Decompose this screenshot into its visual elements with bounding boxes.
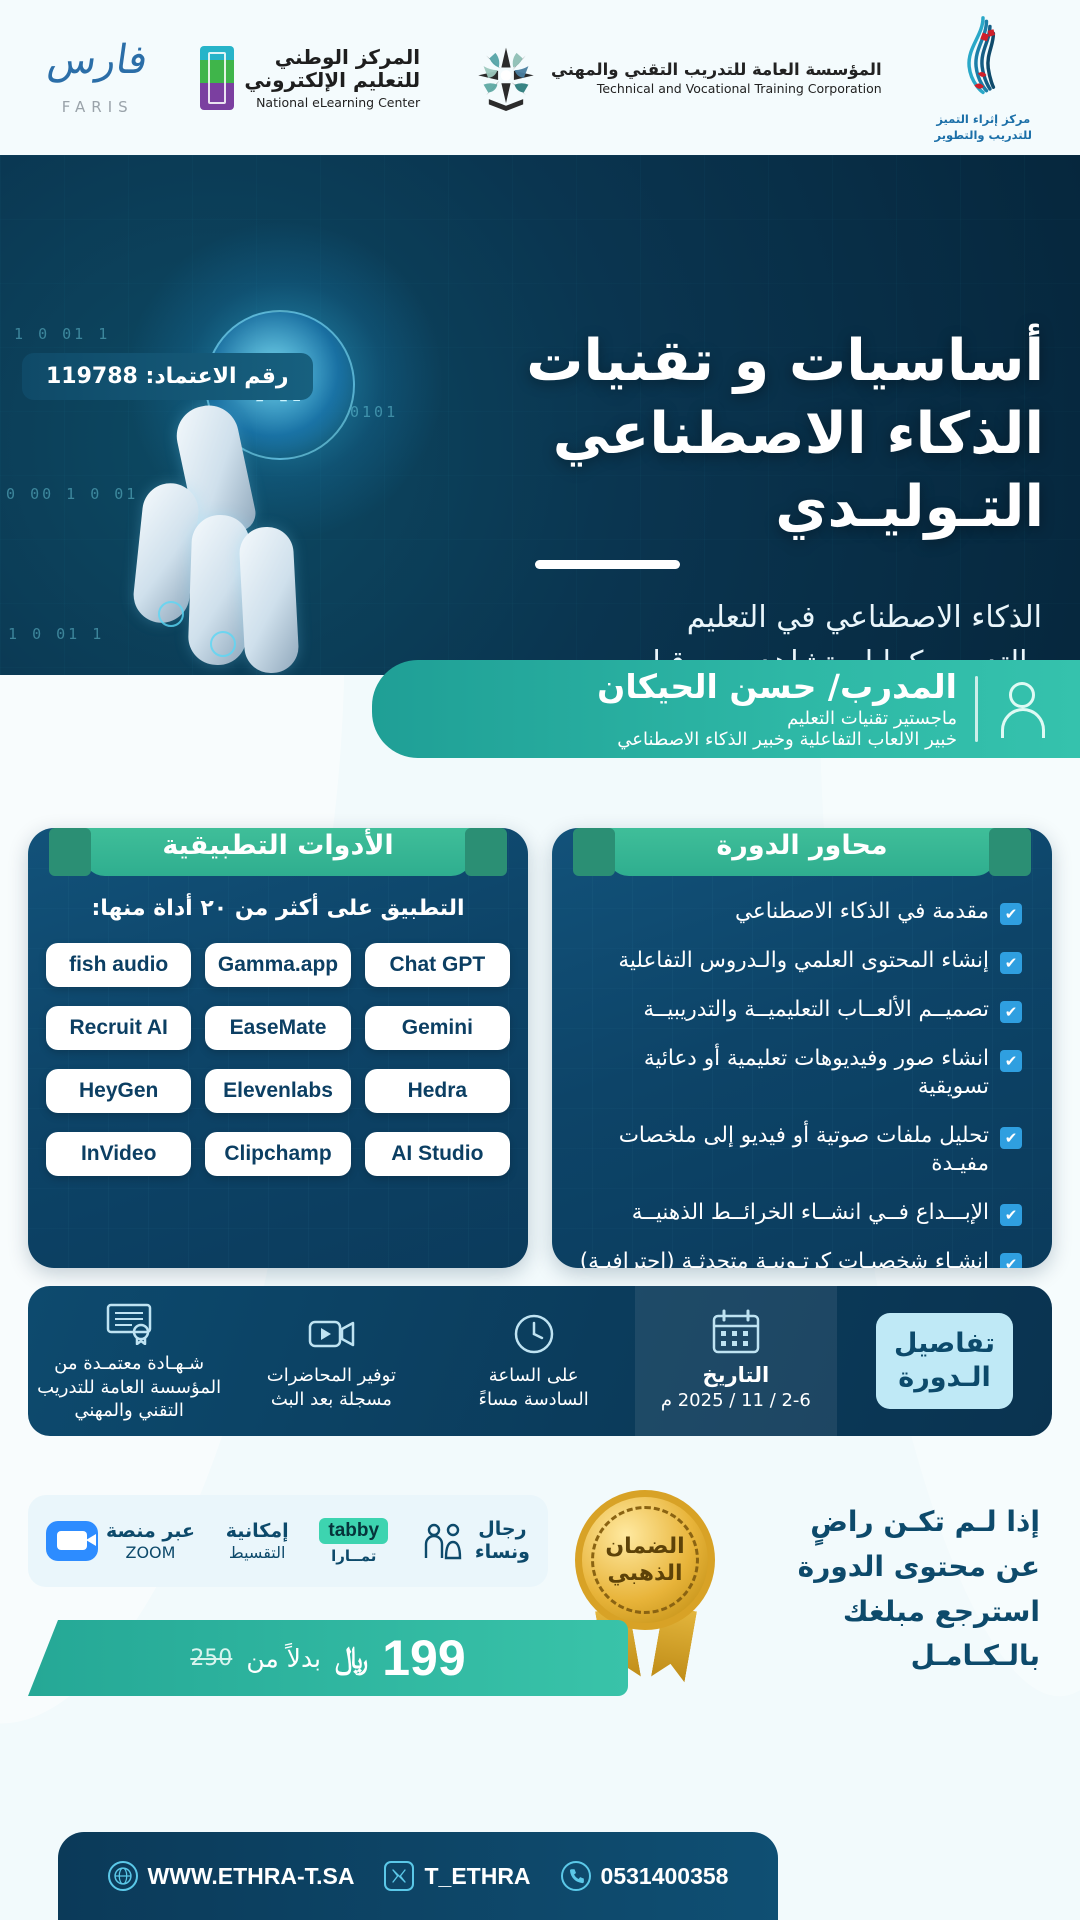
- installment-line2: التقسيط: [226, 1543, 289, 1562]
- clock-icon: [507, 1311, 561, 1357]
- installment-label: إمكانية التقسيط: [226, 1520, 289, 1562]
- seal-line1: الضمان: [605, 1533, 684, 1561]
- detail-time: على الساعة السادسة مساءً: [433, 1286, 635, 1436]
- guarantee-line2: عن محتوى الدورة: [720, 1545, 1040, 1590]
- guarantee-line1: إذا لـم تكـن راضٍ: [720, 1500, 1040, 1545]
- price-old-amount: 250: [190, 1646, 232, 1671]
- detail-date: التاريخ 2-6 / 11 / 2025 م: [635, 1286, 837, 1436]
- globe-icon: [108, 1861, 138, 1891]
- robot-hand-illustration: [118, 405, 358, 675]
- detail-recording: توفير المحاضرات مسجلة بعد البث: [230, 1286, 432, 1436]
- topic-label: مقدمة في الذكاء الاصطناعي: [576, 898, 989, 926]
- platform-line1: عبر منصة: [106, 1520, 195, 1542]
- topic-item: ✔تصميــم الألعــاب التعليميــة والتدريبي…: [576, 996, 1022, 1024]
- payment-options-card: رجال ونساء tabby تمــارا إمكانية التق: [28, 1495, 548, 1587]
- platform-line2: ZOOM: [106, 1543, 195, 1562]
- detail-certificate: شـهـادة معتمـدة من المؤسسة العامة للتدري…: [28, 1286, 230, 1436]
- topic-label: تصميــم الألعــاب التعليميــة والتدريبيـ…: [576, 996, 989, 1024]
- tool-chip[interactable]: InVideo: [46, 1132, 191, 1176]
- person-icon: [996, 678, 1052, 740]
- topic-item: ✔تحليل ملفات صوتية أو فيديو إلى ملخصات م…: [576, 1122, 1022, 1178]
- details-title: تفاصيل الـدورة: [837, 1286, 1052, 1436]
- check-icon: ✔: [1000, 1050, 1022, 1072]
- topic-item: ✔انشاء صور وفيديوهات تعليمية أو دعائية ت…: [576, 1045, 1022, 1101]
- website-label: WWW.ETHRA-T.SA: [148, 1863, 355, 1890]
- tvtc-star-icon: [473, 45, 539, 111]
- zoom-icon: [46, 1521, 98, 1561]
- price-instead-label: بدلاً من: [246, 1644, 321, 1673]
- topic-item: ✔الإبـــداع فــي انشــاء الخرائــط الذهن…: [576, 1199, 1022, 1227]
- topic-label: انشـاء شخصيـات كرتـونيـة متحدثـة (احتراف…: [576, 1248, 989, 1269]
- audience-label: رجال ونساء: [475, 1518, 530, 1564]
- faris-mark: فارس: [45, 40, 150, 80]
- phone-item[interactable]: 0531400358: [561, 1861, 729, 1891]
- tool-chip[interactable]: Clipchamp: [205, 1132, 350, 1176]
- topic-label: تحليل ملفات صوتية أو فيديو إلى ملخصات مف…: [576, 1122, 989, 1178]
- ethraa-arabic-line2: للتدريب والتطوير: [935, 128, 1032, 144]
- hero-title-line3: التـوليـدي: [504, 471, 1044, 544]
- x-handle-label: T_ETHRA: [424, 1863, 530, 1890]
- topic-item: ✔إنشاء المحتوى العلمي والـدروس التفاعلية: [576, 947, 1022, 975]
- detail-time-text: على الساعة السادسة مساءً: [479, 1364, 589, 1412]
- faris-wordmark: FARIS: [62, 98, 134, 116]
- robot-joint-2: [210, 631, 236, 657]
- tool-chip[interactable]: Gemini: [365, 1006, 510, 1050]
- tvtc-logo: المؤسسة العامة للتدريب التقني والمهني Te…: [473, 45, 882, 111]
- tools-row: Chat GPT Gamma.app fish audio: [46, 943, 510, 987]
- platform-item: عبر منصة ZOOM: [46, 1520, 195, 1562]
- tamara-logo: تمــارا: [331, 1547, 376, 1565]
- guarantee-line4: بالـكـامـل: [720, 1634, 1040, 1679]
- hero-title-line2: الذكاء الاصطناعي: [504, 398, 1044, 471]
- nelc-arabic-line1: المركز الوطني: [244, 46, 420, 69]
- hero-title-line1: أساسيات و تقنيات: [504, 325, 1044, 398]
- calendar-icon: [709, 1309, 763, 1355]
- topic-label: انشاء صور وفيديوهات تعليمية أو دعائية تس…: [576, 1045, 989, 1101]
- trainer-name: المدرب/ حسن الحيكان: [406, 668, 957, 706]
- binary-bit-1: 1 01 0 1: [14, 325, 110, 343]
- price-currency: ﷼: [335, 1641, 368, 1676]
- logo-bar: فارس FARIS المركز الوطني للتعليم الإلكتر…: [0, 0, 1080, 155]
- audience-item: رجال ونساء: [419, 1518, 530, 1564]
- trainer-bar: المدرب/ حسن الحيكان ماجستير تقنيات التعل…: [372, 660, 1080, 758]
- nelc-logo: المركز الوطني للتعليم الإلكتروني Nationa…: [200, 46, 420, 110]
- tool-chip[interactable]: HeyGen: [46, 1069, 191, 1113]
- approval-number-badge: رقم الاعتماد: 119788: [22, 353, 313, 400]
- tool-chip[interactable]: Recruit AI: [46, 1006, 191, 1050]
- nelc-glyph-icon: [200, 46, 234, 110]
- tools-ribbon-title: الأدوات التطبيقية: [83, 828, 473, 876]
- tabby-tamara-item: tabby تمــارا: [319, 1518, 388, 1565]
- guarantee-line3: استرجع مبلغك: [720, 1590, 1040, 1635]
- check-icon: ✔: [1000, 1253, 1022, 1269]
- details-title-line1: تفاصيل: [894, 1327, 995, 1361]
- tool-chip[interactable]: fish audio: [46, 943, 191, 987]
- poster-root: فارس FARIS المركز الوطني للتعليم الإلكتر…: [0, 0, 1080, 1920]
- trainer-qualification: ماجستير تقنيات التعليم: [406, 708, 957, 729]
- topics-list: ✔مقدمة في الذكاء الاصطناعي ✔إنشاء المحتو…: [570, 884, 1034, 1268]
- details-title-line2: الـدورة: [894, 1361, 995, 1395]
- tools-row: AI Studio Clipchamp InVideo: [46, 1132, 510, 1176]
- ethraa-arabic-line1: مركز إثراء التميز: [935, 112, 1032, 128]
- certificate-icon: [102, 1299, 156, 1345]
- hero-subtitle-line1: الذكاء الاصطناعي في التعليم: [522, 595, 1042, 640]
- detail-date-value: 2-6 / 11 / 2025 م: [661, 1390, 811, 1411]
- seal-line2: الذهبي: [608, 1560, 683, 1588]
- topic-label: إنشاء المحتوى العلمي والـدروس التفاعلية: [576, 947, 989, 975]
- panels-row: محاور الدورة ✔مقدمة في الذكاء الاصطناعي …: [0, 828, 1080, 1268]
- topic-item: ✔مقدمة في الذكاء الاصطناعي: [576, 898, 1022, 926]
- hero-title: أساسيات و تقنيات الذكاء الاصطناعي التـول…: [504, 325, 1044, 544]
- seal-medal-icon: الضمان الذهبي: [575, 1490, 715, 1630]
- website-item[interactable]: WWW.ETHRA-T.SA: [108, 1861, 355, 1891]
- contact-footer: WWW.ETHRA-T.SA T_ETHRA 0531400358: [58, 1832, 778, 1920]
- tools-panel: الأدوات التطبيقية التطبيق على أكثر من ٢٠…: [28, 828, 528, 1268]
- price-banner: 199 ﷼ بدلاً من 250: [28, 1620, 628, 1696]
- check-icon: ✔: [1000, 903, 1022, 925]
- faris-logo: فارس FARIS: [48, 40, 147, 116]
- ethraa-flame-icon: [957, 12, 1009, 100]
- check-icon: ✔: [1000, 1001, 1022, 1023]
- robot-finger-ring: [238, 526, 300, 675]
- robot-joint-1: [158, 601, 184, 627]
- check-icon: ✔: [1000, 1127, 1022, 1149]
- topic-label: الإبـــداع فــي انشــاء الخرائــط الذهني…: [576, 1199, 989, 1227]
- check-icon: ✔: [1000, 952, 1022, 974]
- phone-icon: [561, 1861, 591, 1891]
- price-amount: 199: [382, 1629, 465, 1687]
- tvtc-arabic: المؤسسة العامة للتدريب التقني والمهني: [551, 60, 882, 79]
- installment-line1: إمكانية: [226, 1520, 289, 1542]
- nelc-arabic-line2: للتعليم الإلكتروني: [244, 69, 420, 92]
- x-twitter-icon: [384, 1861, 414, 1891]
- phone-label: 0531400358: [601, 1863, 729, 1890]
- hero-section: 1 01 0 1 00 0 -0101 0101 01 0 1 00 0 1 0…: [0, 155, 1080, 675]
- tool-chip[interactable]: AI Studio: [365, 1132, 510, 1176]
- tabby-logo: tabby: [319, 1518, 388, 1544]
- detail-certificate-text: شـهـادة معتمـدة من المؤسسة العامة للتدري…: [37, 1352, 221, 1423]
- platform-label: عبر منصة ZOOM: [106, 1520, 195, 1562]
- trainer-expertise: خبير الالعاب التفاعلية وخبير الذكاء الاص…: [406, 729, 957, 750]
- detail-recording-text: توفير المحاضرات مسجلة بعد البث: [267, 1364, 396, 1412]
- tool-chip[interactable]: Chat GPT: [365, 943, 510, 987]
- tool-chip[interactable]: Elevenlabs: [205, 1069, 350, 1113]
- title-underline: [535, 560, 680, 569]
- nelc-english: National eLearning Center: [244, 95, 420, 110]
- installment-item: إمكانية التقسيط: [226, 1520, 289, 1562]
- topics-panel: محاور الدورة ✔مقدمة في الذكاء الاصطناعي …: [552, 828, 1052, 1268]
- detail-date-label: التاريخ: [703, 1363, 770, 1387]
- topics-ribbon-title: محاور الدورة: [607, 828, 997, 876]
- tools-row: Gemini EaseMate Recruit AI: [46, 1006, 510, 1050]
- topic-item: ✔انشـاء شخصيـات كرتـونيـة متحدثـة (احترا…: [576, 1248, 1022, 1269]
- tools-note: التطبيق على أكثر من ٢٠ أداة منها:: [46, 896, 510, 921]
- guarantee-text: إذا لـم تكـن راضٍ عن محتوى الدورة استرجع…: [720, 1500, 1040, 1679]
- tools-grid: Chat GPT Gamma.app fish audio Gemini Eas…: [46, 943, 510, 1176]
- video-icon: [304, 1311, 358, 1357]
- tool-chip[interactable]: Hedra: [365, 1069, 510, 1113]
- people-icon: [419, 1520, 467, 1562]
- detail-date-text: التاريخ 2-6 / 11 / 2025 م: [661, 1362, 811, 1413]
- ethraa-logo: مركز إثراء التميز للتدريب والتطوير: [935, 12, 1032, 143]
- course-details-bar: تفاصيل الـدورة التاريخ 2-6 / 11 / 2025 م: [28, 1286, 1052, 1436]
- tool-chip[interactable]: EaseMate: [205, 1006, 350, 1050]
- tvtc-english: Technical and Vocational Training Corpor…: [551, 81, 882, 96]
- x-handle-item[interactable]: T_ETHRA: [384, 1861, 530, 1891]
- trainer-divider: [975, 676, 978, 742]
- check-icon: ✔: [1000, 1204, 1022, 1226]
- binary-bit-5: 1 01 0 1: [8, 625, 104, 643]
- tool-chip[interactable]: Gamma.app: [205, 943, 350, 987]
- tools-row: Hedra Elevenlabs HeyGen: [46, 1069, 510, 1113]
